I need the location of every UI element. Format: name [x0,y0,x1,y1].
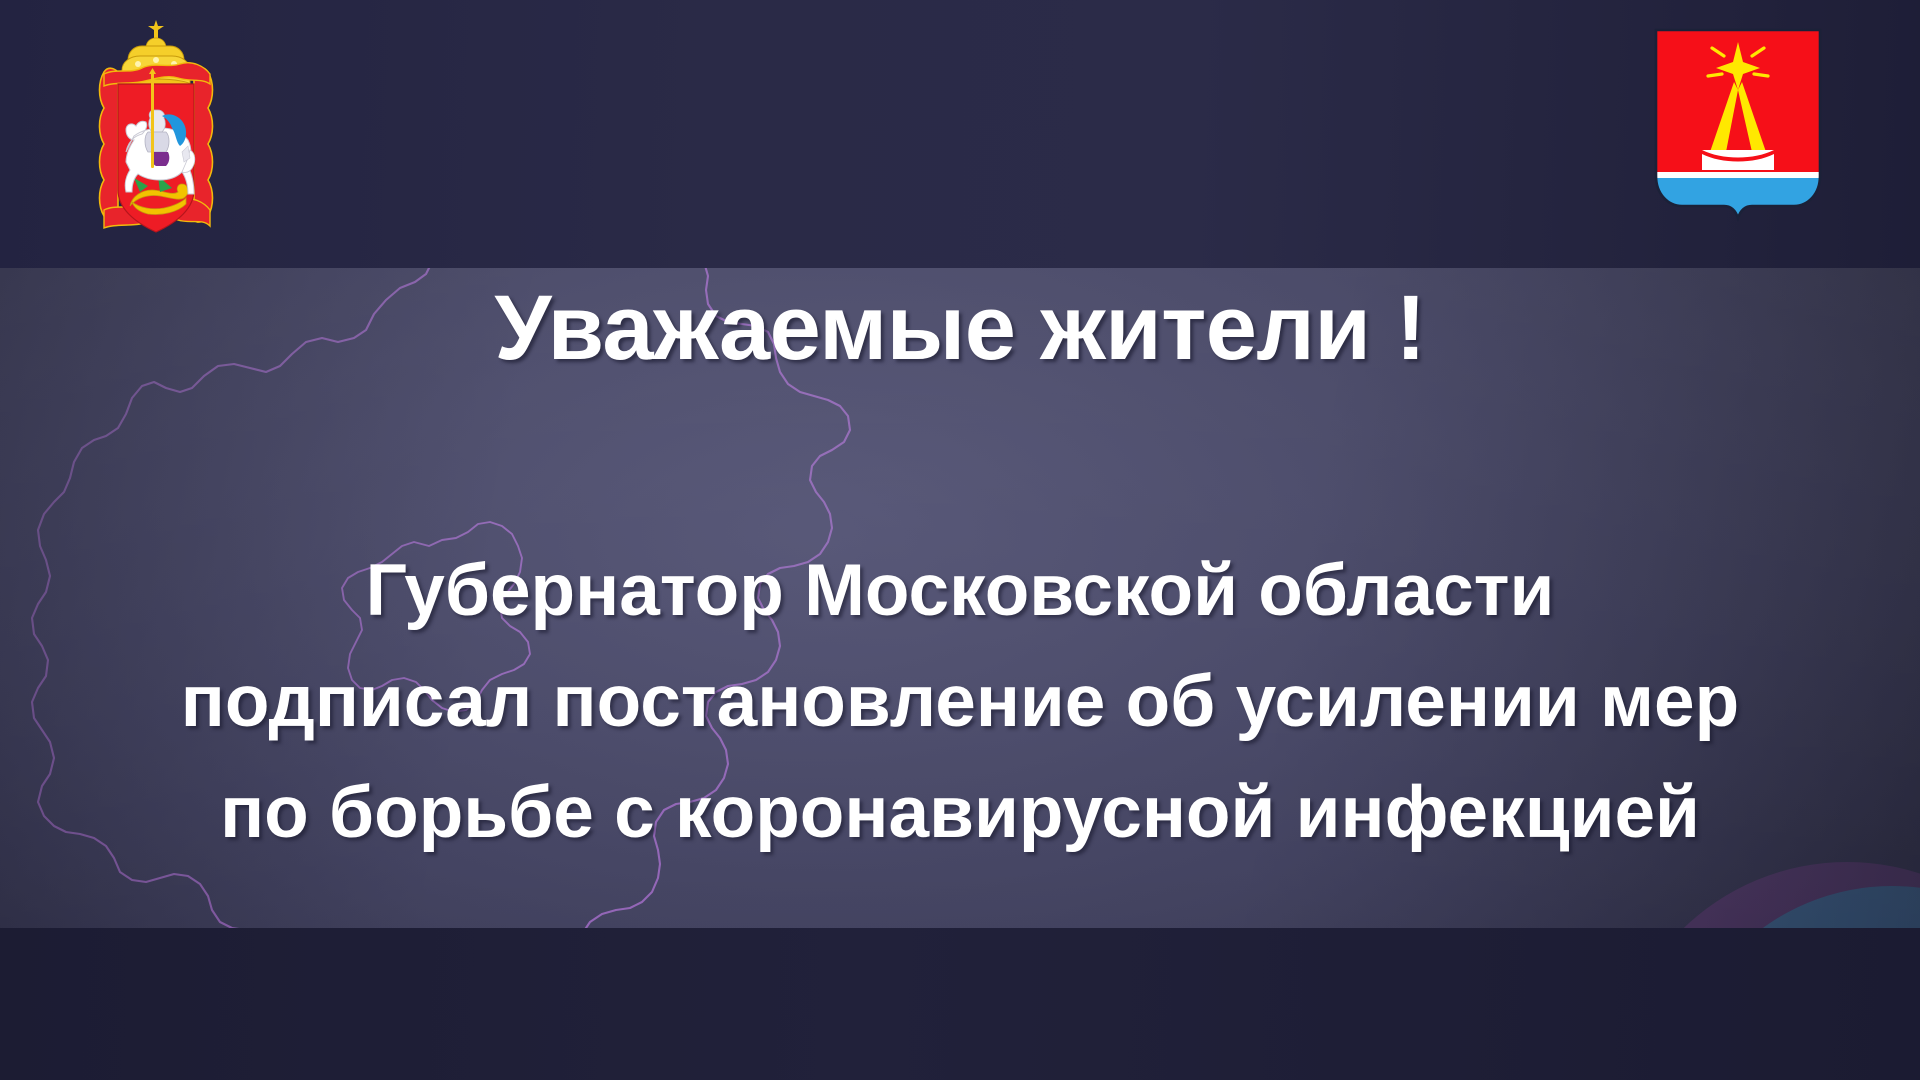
moscow-oblast-coat-of-arms-icon [82,12,230,256]
slide-body: Губернатор Московской области подписал п… [0,536,1920,869]
lytkarino-coat-of-arms-icon [1648,24,1828,236]
header-band [0,0,1920,268]
slide-text-block: Уважаемые жители ! Губернатор Московской… [0,268,1920,928]
footer-band [0,928,1920,1080]
body-line-2: подписал постановление об усилении мер [0,647,1920,758]
body-line-1: Губернатор Московской области [0,536,1920,647]
slide-canvas: Уважаемые жители ! Губернатор Московской… [0,0,1920,1080]
page-title: Уважаемые жители ! [0,268,1920,374]
body-line-3: по борьбе с коронавирусной инфекцией [0,758,1920,869]
